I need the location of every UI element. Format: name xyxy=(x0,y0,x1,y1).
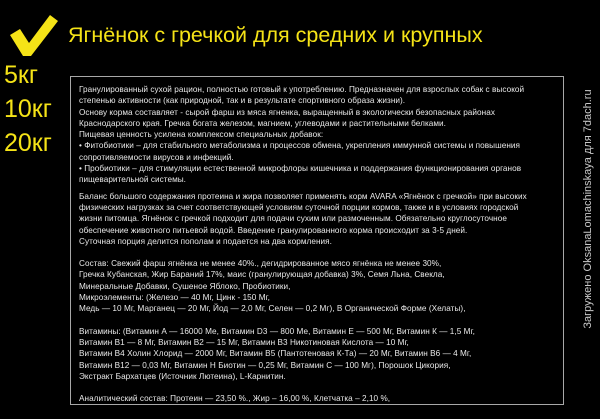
page-title: Ягнёнок с гречкой для средних и крупных xyxy=(68,25,483,47)
intro-line: Пищевая ценность усилена комплексом спец… xyxy=(79,129,557,140)
check-mark-icon xyxy=(6,13,60,59)
balance-line: жизни питомца. Ягнёнок с гречкой подходи… xyxy=(79,213,557,224)
product-description-panel: Гранулированный сухой рацион, полностью … xyxy=(70,76,564,405)
intro-line: степенью активности (как природной, так … xyxy=(79,95,557,106)
product-description-content: Гранулированный сухой рацион, полностью … xyxy=(71,77,563,405)
spacer xyxy=(79,247,557,258)
intro-line: Основу корма составляет - сырой фарш из … xyxy=(79,107,557,118)
vitamins-line: Витамины: (Витамин А — 16000 Ме, Витамин… xyxy=(79,326,557,337)
composition-line: Гречка Кубанская, Жир Бараний 17%, маис … xyxy=(79,269,557,280)
header: Ягнёнок с гречкой для средних и крупных xyxy=(0,10,483,62)
bullet-line: • Пробиотики – для стимуляции естественн… xyxy=(79,163,557,174)
balance-line: Баланс большого содержания протеина и жи… xyxy=(79,191,557,202)
bullet-line: пищеварительной системы. xyxy=(79,174,557,185)
vitamins-line: Витамин В4 Холин Хлорид — 2000 Мг, Витам… xyxy=(79,348,557,359)
spacer xyxy=(79,315,557,326)
vitamins-line: Экстракт Бархатцев (Источник Лютеина), L… xyxy=(79,371,557,382)
composition-line: Микроэлементы: (Железо — 40 Мг, Цинк - 1… xyxy=(79,292,557,303)
analysis-line: Микро- и макроэлементы — 6,00 %, Кальций… xyxy=(79,404,557,405)
watermark-text: Загружено OksanaLomachinskaya для 7dach.… xyxy=(582,79,594,339)
vitamins-line: Витамин В1 — 8 Мг, Витамин В2 — 15 Мг, В… xyxy=(79,337,557,348)
bullet-line: • Фитобиотики – для стабильного метаболи… xyxy=(79,140,557,151)
balance-line: физических нагрузках за счет соответству… xyxy=(79,202,557,213)
balance-line: Суточная порция делится пополам и подает… xyxy=(79,236,557,247)
weight-option-5kg[interactable]: 5кг xyxy=(0,58,74,92)
weight-option-10kg[interactable]: 10кг xyxy=(0,92,74,126)
composition-line: Состав: Свежий фарш ягнёнка не менее 40%… xyxy=(79,258,557,269)
watermark: Загружено OksanaLomachinskaya для 7dach.… xyxy=(575,0,600,419)
intro-line: Гранулированный сухой рацион, полностью … xyxy=(79,84,557,95)
product-info-slide: Ягнёнок с гречкой для средних и крупных … xyxy=(0,0,600,419)
spacer xyxy=(79,382,557,393)
composition-line: Медь — 10 Мг, Марганец — 20 Мг, Йод — 2,… xyxy=(79,303,557,314)
analysis-line: Аналитический состав: Протеин — 23,50 %.… xyxy=(79,393,557,404)
bullet-line: сопротивляемости вирусов и инфекций. xyxy=(79,152,557,163)
balance-line: обеспечение животного питьевой водой. Вв… xyxy=(79,225,557,236)
vitamins-line: Витамин В12 — 0,03 Мг, Витамин Н Биотин … xyxy=(79,360,557,371)
composition-line: Минеральные Добавки, Сушеное Яблоко, Про… xyxy=(79,281,557,292)
weight-options-list: 5кг 10кг 20кг xyxy=(0,58,74,160)
intro-line: Краснодарского края. Гречка богата желез… xyxy=(79,118,557,129)
weight-option-20kg[interactable]: 20кг xyxy=(0,126,74,160)
